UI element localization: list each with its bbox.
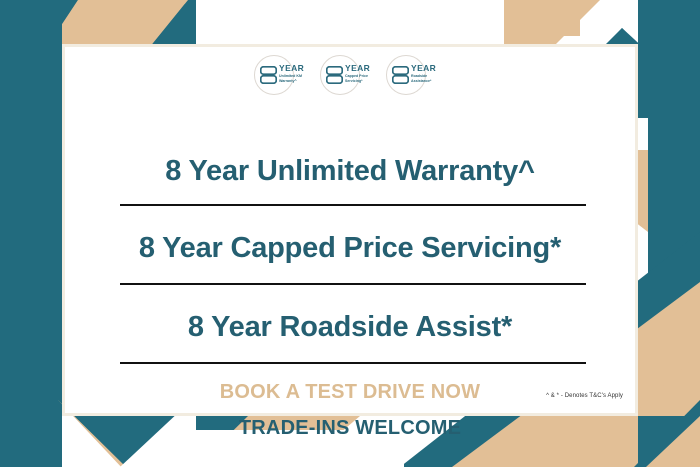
- headline-roadside-assist: 8 Year Roadside Assist*: [65, 311, 635, 344]
- eight-year-badge-icon: [260, 66, 277, 84]
- top-right-teal-corner-fill: [638, 44, 700, 118]
- badge-unit-label: YEAR: [345, 64, 379, 73]
- divider-line: [120, 204, 586, 206]
- badge-unlimited-warranty: YEAR Unlimited KM Warranty^: [253, 55, 315, 95]
- badge-capped-price-servicing: YEAR Capped Price Servicing*: [319, 55, 381, 95]
- badge-row: YEAR Unlimited KM Warranty^ YEAR Capped …: [65, 55, 635, 95]
- badge-unit-label: YEAR: [279, 64, 313, 73]
- cta-trade-ins-welcome: TRADE-INS WELCOME: [65, 417, 635, 440]
- headline-capped-price-servicing: 8 Year Capped Price Servicing*: [65, 232, 635, 265]
- eight-year-badge-icon: [392, 66, 409, 84]
- badge-roadside-assistance: YEAR Roadside Assistance*: [385, 55, 447, 95]
- content-card: YEAR Unlimited KM Warranty^ YEAR Capped …: [62, 44, 638, 416]
- badge-text-group: YEAR Unlimited KM Warranty^: [279, 64, 313, 83]
- left-edge-teal-bar-inner: [0, 150, 16, 360]
- headline-unlimited-warranty: 8 Year Unlimited Warranty^: [65, 155, 635, 188]
- bottom-left-vertical-bar: [0, 355, 52, 467]
- top-white-band: [196, 0, 504, 40]
- badge-detail-label: Capped Price Servicing*: [345, 74, 379, 83]
- terms-disclaimer: ^ & * - Denotes T&C's Apply: [546, 393, 623, 399]
- badge-detail-label: Unlimited KM Warranty^: [279, 74, 313, 83]
- eight-year-badge-icon: [326, 66, 343, 84]
- promotional-banner: YEAR Unlimited KM Warranty^ YEAR Capped …: [0, 0, 700, 467]
- badge-text-group: YEAR Roadside Assistance*: [411, 64, 445, 83]
- badge-text-group: YEAR Capped Price Servicing*: [345, 64, 379, 83]
- divider-line: [120, 283, 586, 285]
- badge-detail-label: Roadside Assistance*: [411, 74, 445, 83]
- badge-unit-label: YEAR: [411, 64, 445, 73]
- divider-line: [120, 362, 586, 364]
